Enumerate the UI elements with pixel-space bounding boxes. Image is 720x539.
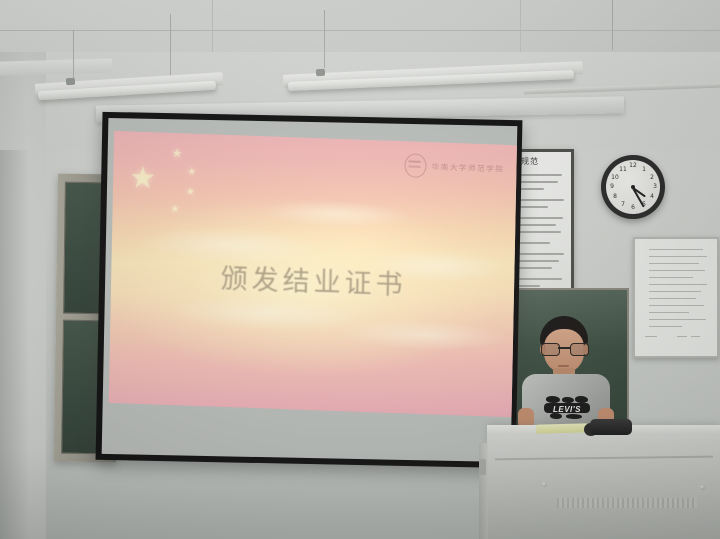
presenter-mouth xyxy=(558,365,569,367)
clock-numeral: 10 xyxy=(611,174,619,182)
wall-shadow-bottom xyxy=(0,449,720,539)
china-flag-stars-icon: ★ ★ ★ ★ ★ xyxy=(114,131,517,145)
wall-clock: 12 1 2 3 4 5 6 7 8 9 10 11 xyxy=(601,155,665,219)
framed-notice-sheet xyxy=(635,239,717,356)
clock-face: 12 1 2 3 4 5 6 7 8 9 10 11 xyxy=(606,160,660,214)
clock-numeral: 6 xyxy=(629,204,637,212)
clock-center-pin xyxy=(631,185,635,189)
slide-logo-text: 华南大学师范学院 xyxy=(432,161,505,175)
clock-numeral: 11 xyxy=(619,166,627,174)
projected-slide: ★ ★ ★ ★ ★ 华南大学师范学院 颁发结业证书 xyxy=(109,131,518,417)
shirt-brand-label: LEVI'S xyxy=(544,405,590,414)
light-wire-left-b xyxy=(170,14,171,76)
projector-screen-surface: ★ ★ ★ ★ ★ 华南大学师范学院 颁发结业证书 xyxy=(102,118,518,462)
clock-numeral: 4 xyxy=(648,193,656,201)
light-cap-right xyxy=(316,69,325,76)
desk-bag xyxy=(590,419,632,435)
ceiling-seam-vertical-left xyxy=(212,0,213,52)
framed-notice-frame xyxy=(633,237,719,358)
clock-numeral: 9 xyxy=(608,183,616,191)
slide-university-logo: 华南大学师范学院 xyxy=(404,153,504,181)
light-cap-left xyxy=(66,78,75,86)
classroom-photo: 师德规范 xyxy=(0,0,720,539)
clock-numeral: 7 xyxy=(619,201,627,209)
ceiling-seam-vertical-right xyxy=(520,0,521,52)
light-wire-left-a xyxy=(73,30,74,78)
shirt-graphic-print: LEVI'S xyxy=(544,396,590,420)
light-wire-right-a xyxy=(324,10,325,68)
light-wire-right-b xyxy=(612,0,613,50)
clock-numeral: 2 xyxy=(648,174,656,182)
clock-numeral: 8 xyxy=(611,193,619,201)
presenter-glasses-icon xyxy=(541,343,587,354)
desk-book xyxy=(536,423,588,433)
clock-numeral: 3 xyxy=(651,183,659,191)
clock-numeral: 1 xyxy=(640,166,648,174)
clock-numeral: 12 xyxy=(629,162,637,170)
presenter-at-podium: LEVI'S xyxy=(518,316,614,428)
slide-title: 颁发结业证书 xyxy=(111,253,517,306)
projector-screen: ★ ★ ★ ★ ★ 华南大学师范学院 颁发结业证书 xyxy=(96,112,523,468)
university-emblem-icon xyxy=(404,153,426,178)
